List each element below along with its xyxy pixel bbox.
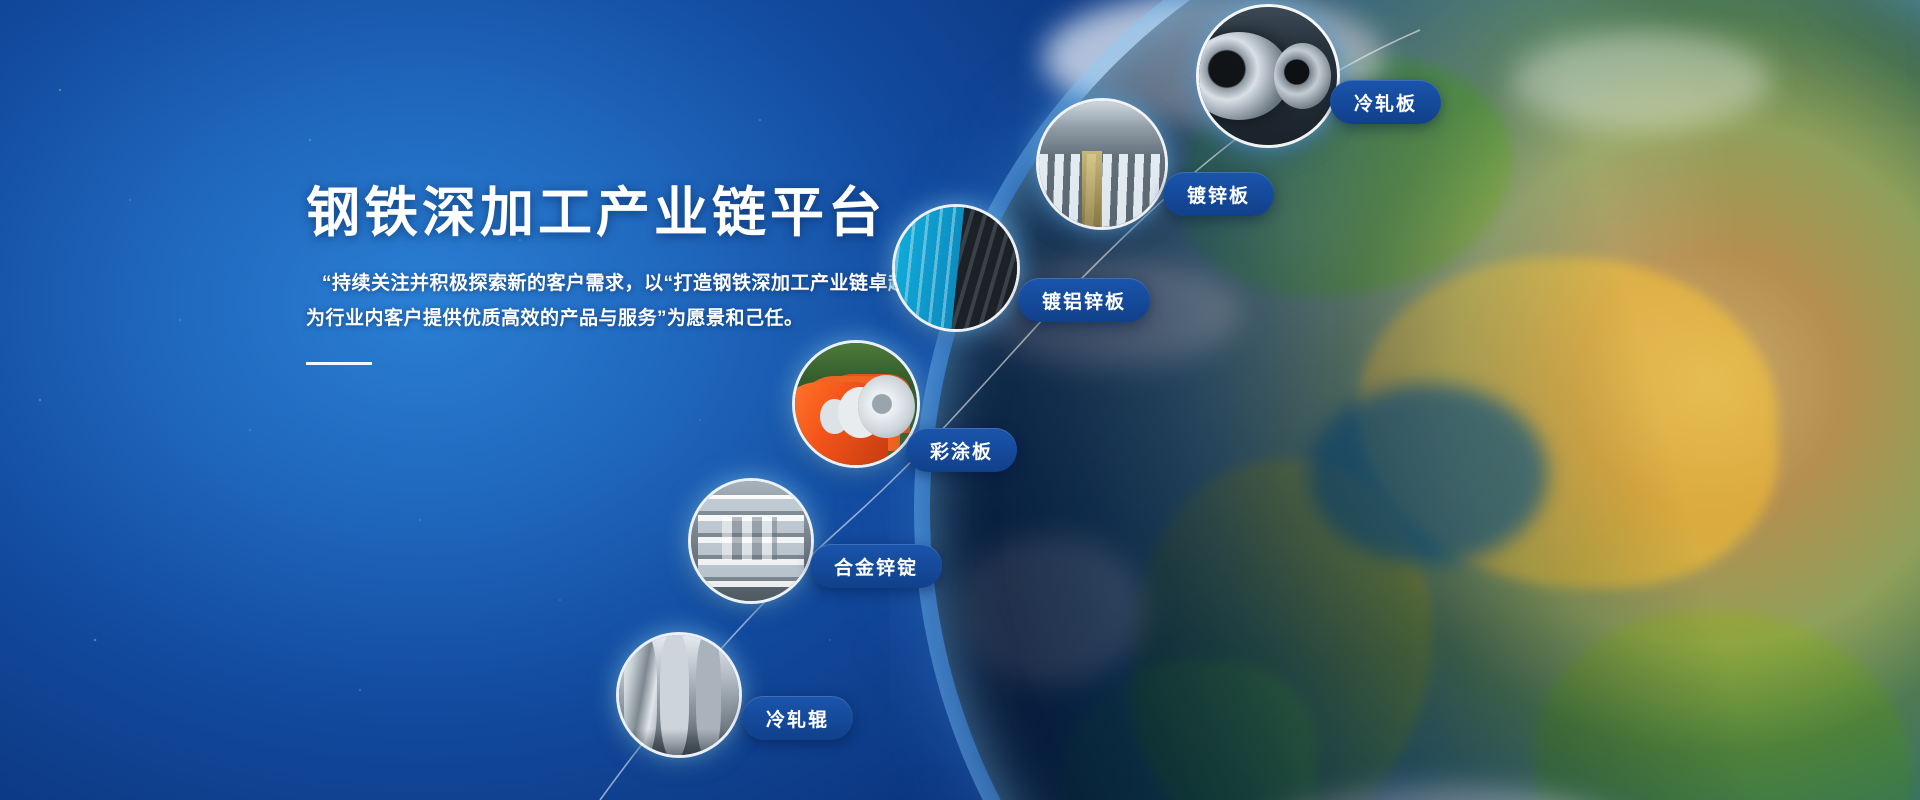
product-label-text: 冷轧辊 [766,705,829,732]
page-subtitle: “持续关注并积极探索新的客户需求，以“打造钢铁深加工产业链卓越平台， 为行业内客… [306,266,926,336]
polished-steel-rolls-photo [619,635,739,755]
zinc-alloy-ingots-photo [691,481,811,601]
product-label-text: 彩涂板 [930,437,993,464]
product-thumbnail-galvanized-sheet[interactable] [1036,98,1168,230]
cloud-decoration [1232,787,1652,800]
title-underline-rule [306,362,372,365]
subtitle-line-1: “持续关注并积极探索新的客户需求，以“打造钢铁深加工产业链卓越平台， [306,266,926,301]
product-thumbnail-zinc-alloy-ingot[interactable] [688,478,814,604]
product-label-text: 冷轧板 [1354,89,1417,116]
cloud-decoration [955,535,1145,685]
product-label-text: 镀锌板 [1187,181,1250,208]
product-thumbnail-cold-rolling-roll[interactable] [616,632,742,758]
page-title: 钢铁深加工产业链平台 [306,182,926,244]
product-label-galvanized-sheet[interactable]: 镀锌板 [1163,172,1274,216]
hero-banner: 钢铁深加工产业链平台 “持续关注并积极探索新的客户需求，以“打造钢铁深加工产业链… [0,0,1920,800]
landmass-decoration [1358,258,1778,588]
starfield-decoration [0,0,1920,800]
product-thumbnail-color-coated-sheet[interactable] [792,340,920,468]
landmass-decoration [1535,611,1915,800]
product-label-color-coated-sheet[interactable]: 彩涂板 [906,428,1017,472]
product-label-cold-rolled-sheet[interactable]: 冷轧板 [1330,80,1441,124]
product-label-zinc-alloy-ingot[interactable]: 合金锌锭 [810,544,942,588]
subtitle-line-2: 为行业内客户提供优质高效的产品与服务”为愿景和己任。 [306,301,926,336]
product-label-galvalume-sheet[interactable]: 镀铝锌板 [1018,278,1150,322]
color-coated-coils-photo [795,343,917,465]
headline-block: 钢铁深加工产业链平台 “持续关注并积极探索新的客户需求，以“打造钢铁深加工产业链… [306,182,926,365]
aluminum-zinc-coated-coil-photo [895,207,1017,329]
product-thumbnail-galvalume-sheet[interactable] [892,204,1020,332]
ocean-decoration [1308,384,1548,564]
galvanized-coil-warehouse-photo [1039,101,1165,227]
cloud-decoration [1510,31,1770,131]
product-label-cold-rolling-roll[interactable]: 冷轧辊 [742,696,853,740]
product-chain-connector-line [0,0,1920,800]
product-thumbnail-cold-rolled-sheet[interactable] [1196,4,1340,148]
landmass-decoration [1132,460,1432,800]
steel-coils-photo [1199,7,1337,145]
product-label-text: 合金锌锭 [834,553,918,580]
landmass-decoration [1056,661,1316,800]
product-label-text: 镀铝锌板 [1042,287,1126,314]
